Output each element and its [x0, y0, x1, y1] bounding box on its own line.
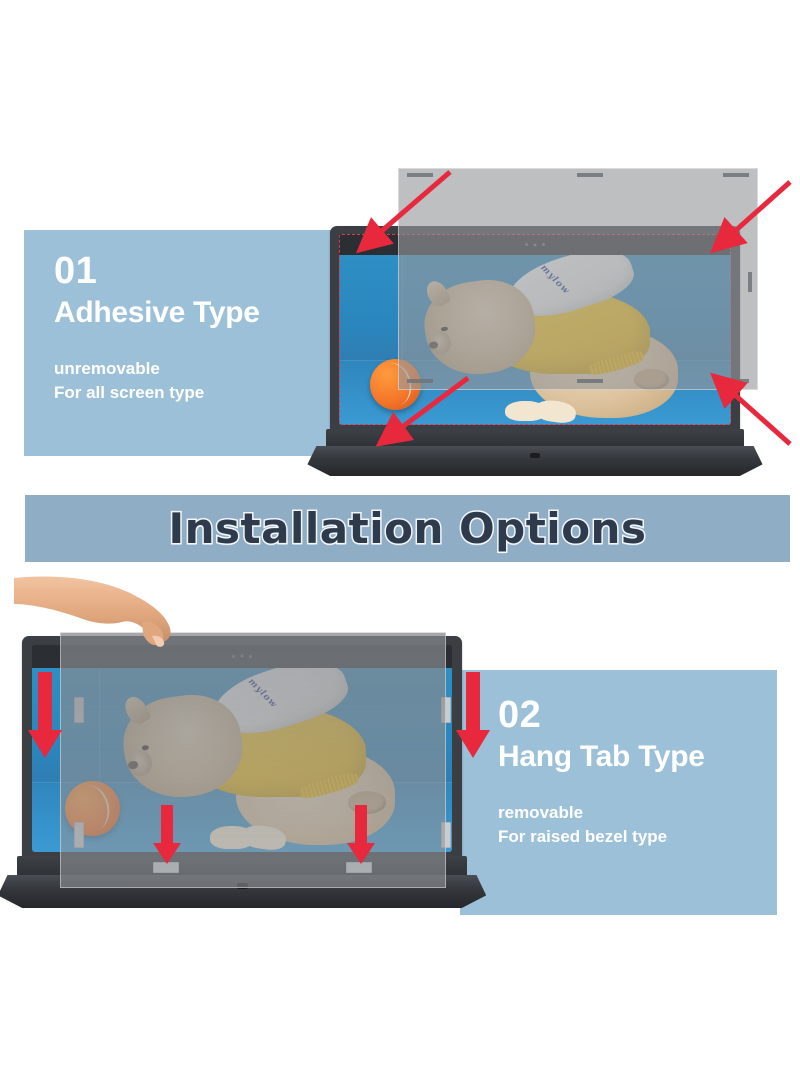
panel-subtext-hang-tab: removable For raised bezel type	[498, 801, 777, 850]
privacy-filter-hang-tab[interactable]	[60, 632, 446, 888]
panel-title-hang-tab: Hang Tab Type	[498, 740, 777, 775]
arrow-diagonal-icon-top-right	[690, 172, 800, 268]
filter-tab-top-center	[577, 173, 603, 177]
arrow-diagonal-icon-top-left	[330, 160, 460, 270]
arrow-diagonal-icon-bottom-left	[360, 370, 480, 460]
subtext-line-2: For raised bezel type	[498, 825, 777, 850]
filter-tab-bottom-center	[577, 379, 603, 383]
banner-title: Installation Options	[25, 495, 790, 562]
arrow-down-icon-left	[27, 672, 63, 762]
info-panel-hang-tab: 02 Hang Tab Type removable For raised be…	[460, 670, 777, 915]
subtext-line-1: removable	[498, 801, 777, 826]
infographic-canvas: 01 Adhesive Type unremovable For all scr…	[0, 0, 800, 1091]
laptop-base-notch	[530, 453, 540, 458]
filter-tab-right-mid	[748, 272, 752, 292]
arrow-diagonal-icon-bottom-right	[690, 368, 800, 464]
arrow-down-icon-bottom-left	[152, 805, 182, 867]
panel-number-02: 02	[498, 696, 777, 734]
installation-options-banner: Installation Options	[25, 495, 790, 562]
arrow-down-icon-bottom-right	[346, 805, 376, 867]
arrow-down-icon-right	[455, 672, 491, 762]
hand-pinch-icon	[14, 572, 214, 662]
